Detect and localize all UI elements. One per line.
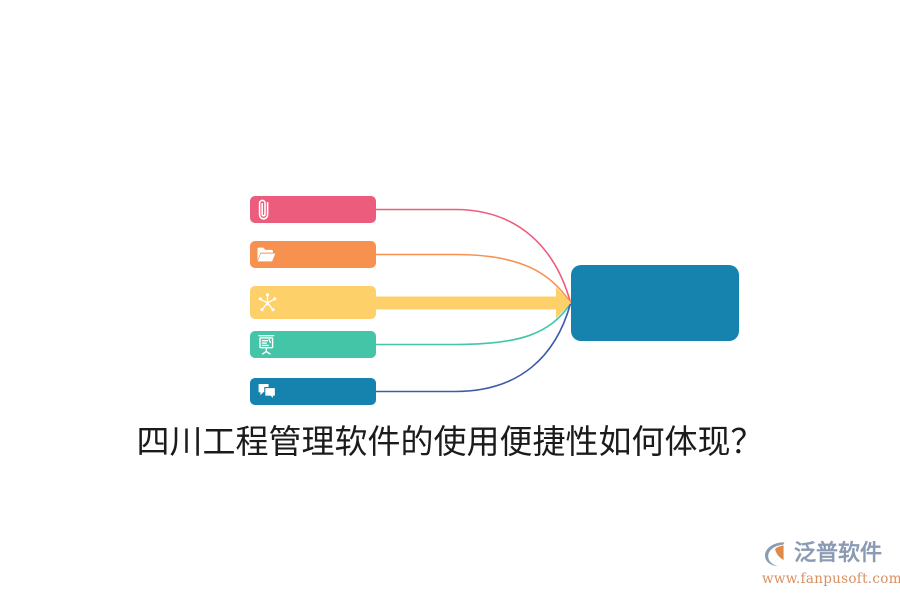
network-node[interactable] [250, 286, 376, 319]
slide-canvas: 四川工程管理软件的使用便捷性如何体现？ 泛普软件 www.fanpusoft.c… [0, 0, 900, 600]
connector-chat [376, 304, 571, 392]
target-node[interactable] [571, 265, 739, 341]
watermark: 泛普软件 www.fanpusoft.com [762, 538, 894, 592]
connector-network-arrow [376, 287, 571, 319]
page-title: 四川工程管理软件的使用便捷性如何体现？ [0, 420, 900, 464]
diagram [0, 0, 900, 600]
attachment-node[interactable] [250, 196, 376, 223]
chat-node[interactable] [250, 378, 376, 405]
connector-folder [376, 255, 571, 303]
brand-name: 泛普软件 [794, 539, 882, 569]
connector-attachment [376, 210, 571, 303]
brand-url: www.fanpusoft.com [762, 571, 894, 587]
connector-presentation [376, 304, 571, 345]
presentation-node[interactable] [250, 331, 376, 358]
folder-node[interactable] [250, 241, 376, 268]
fanpu-logo-icon [762, 539, 792, 569]
